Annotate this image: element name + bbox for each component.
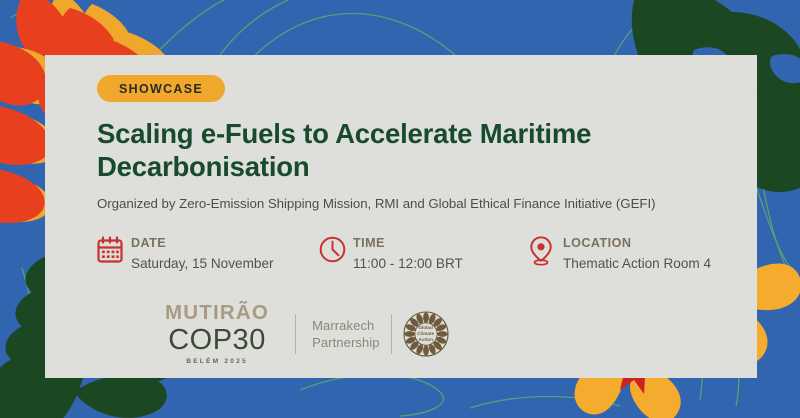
page-title: Scaling e-Fuels to Accelerate Maritime D…	[97, 118, 697, 183]
meta-item-time: TIME 11:00 - 12:00 BRT	[319, 235, 529, 273]
meta-item-location: LOCATION Thematic Action Room 4	[529, 235, 711, 273]
cop30-logo: MUTIRÃO COP30 BELÉM 2025	[165, 303, 269, 365]
global-climate-action-seal: Global Climate Action	[403, 311, 449, 357]
event-banner: SHOWCASE Scaling e-Fuels to Accelerate M…	[0, 0, 800, 418]
calendar-icon	[97, 235, 131, 268]
meta-label-date: DATE	[131, 236, 274, 252]
marrakech-line-2: Partnership	[312, 334, 380, 351]
belem-2025-text: BELÉM 2025	[165, 358, 269, 365]
marrakech-line-1: Marrakech	[312, 317, 380, 334]
logo-lockup: MUTIRÃO COP30 BELÉM 2025 Marrakech Partn…	[165, 303, 449, 365]
cop30-wordmark: COP30	[165, 325, 269, 355]
meta-value-date: Saturday, 15 November	[131, 254, 274, 273]
meta-value-time: 11:00 - 12:00 BRT	[353, 254, 463, 273]
logo-divider-1	[295, 314, 296, 354]
mutirao-wordmark: MUTIRÃO	[165, 303, 269, 324]
showcase-badge: SHOWCASE	[97, 75, 225, 102]
marrakech-partnership-logo: Marrakech Partnership	[312, 317, 380, 351]
organizer-text: Organized by Zero-Emission Shipping Miss…	[97, 196, 733, 211]
event-card: SHOWCASE Scaling e-Fuels to Accelerate M…	[45, 55, 757, 378]
logo-divider-2	[391, 314, 392, 354]
meta-item-date: DATE Saturday, 15 November	[97, 235, 319, 273]
event-meta-row: DATE Saturday, 15 November TIME 11:0	[97, 235, 733, 273]
seal-line-3: Action	[403, 337, 449, 343]
clock-icon	[319, 235, 353, 268]
meta-label-time: TIME	[353, 236, 463, 252]
meta-value-location: Thematic Action Room 4	[563, 254, 711, 273]
meta-label-location: LOCATION	[563, 236, 711, 252]
location-pin-icon	[529, 235, 563, 271]
seal-label: Global Climate Action	[403, 325, 449, 343]
